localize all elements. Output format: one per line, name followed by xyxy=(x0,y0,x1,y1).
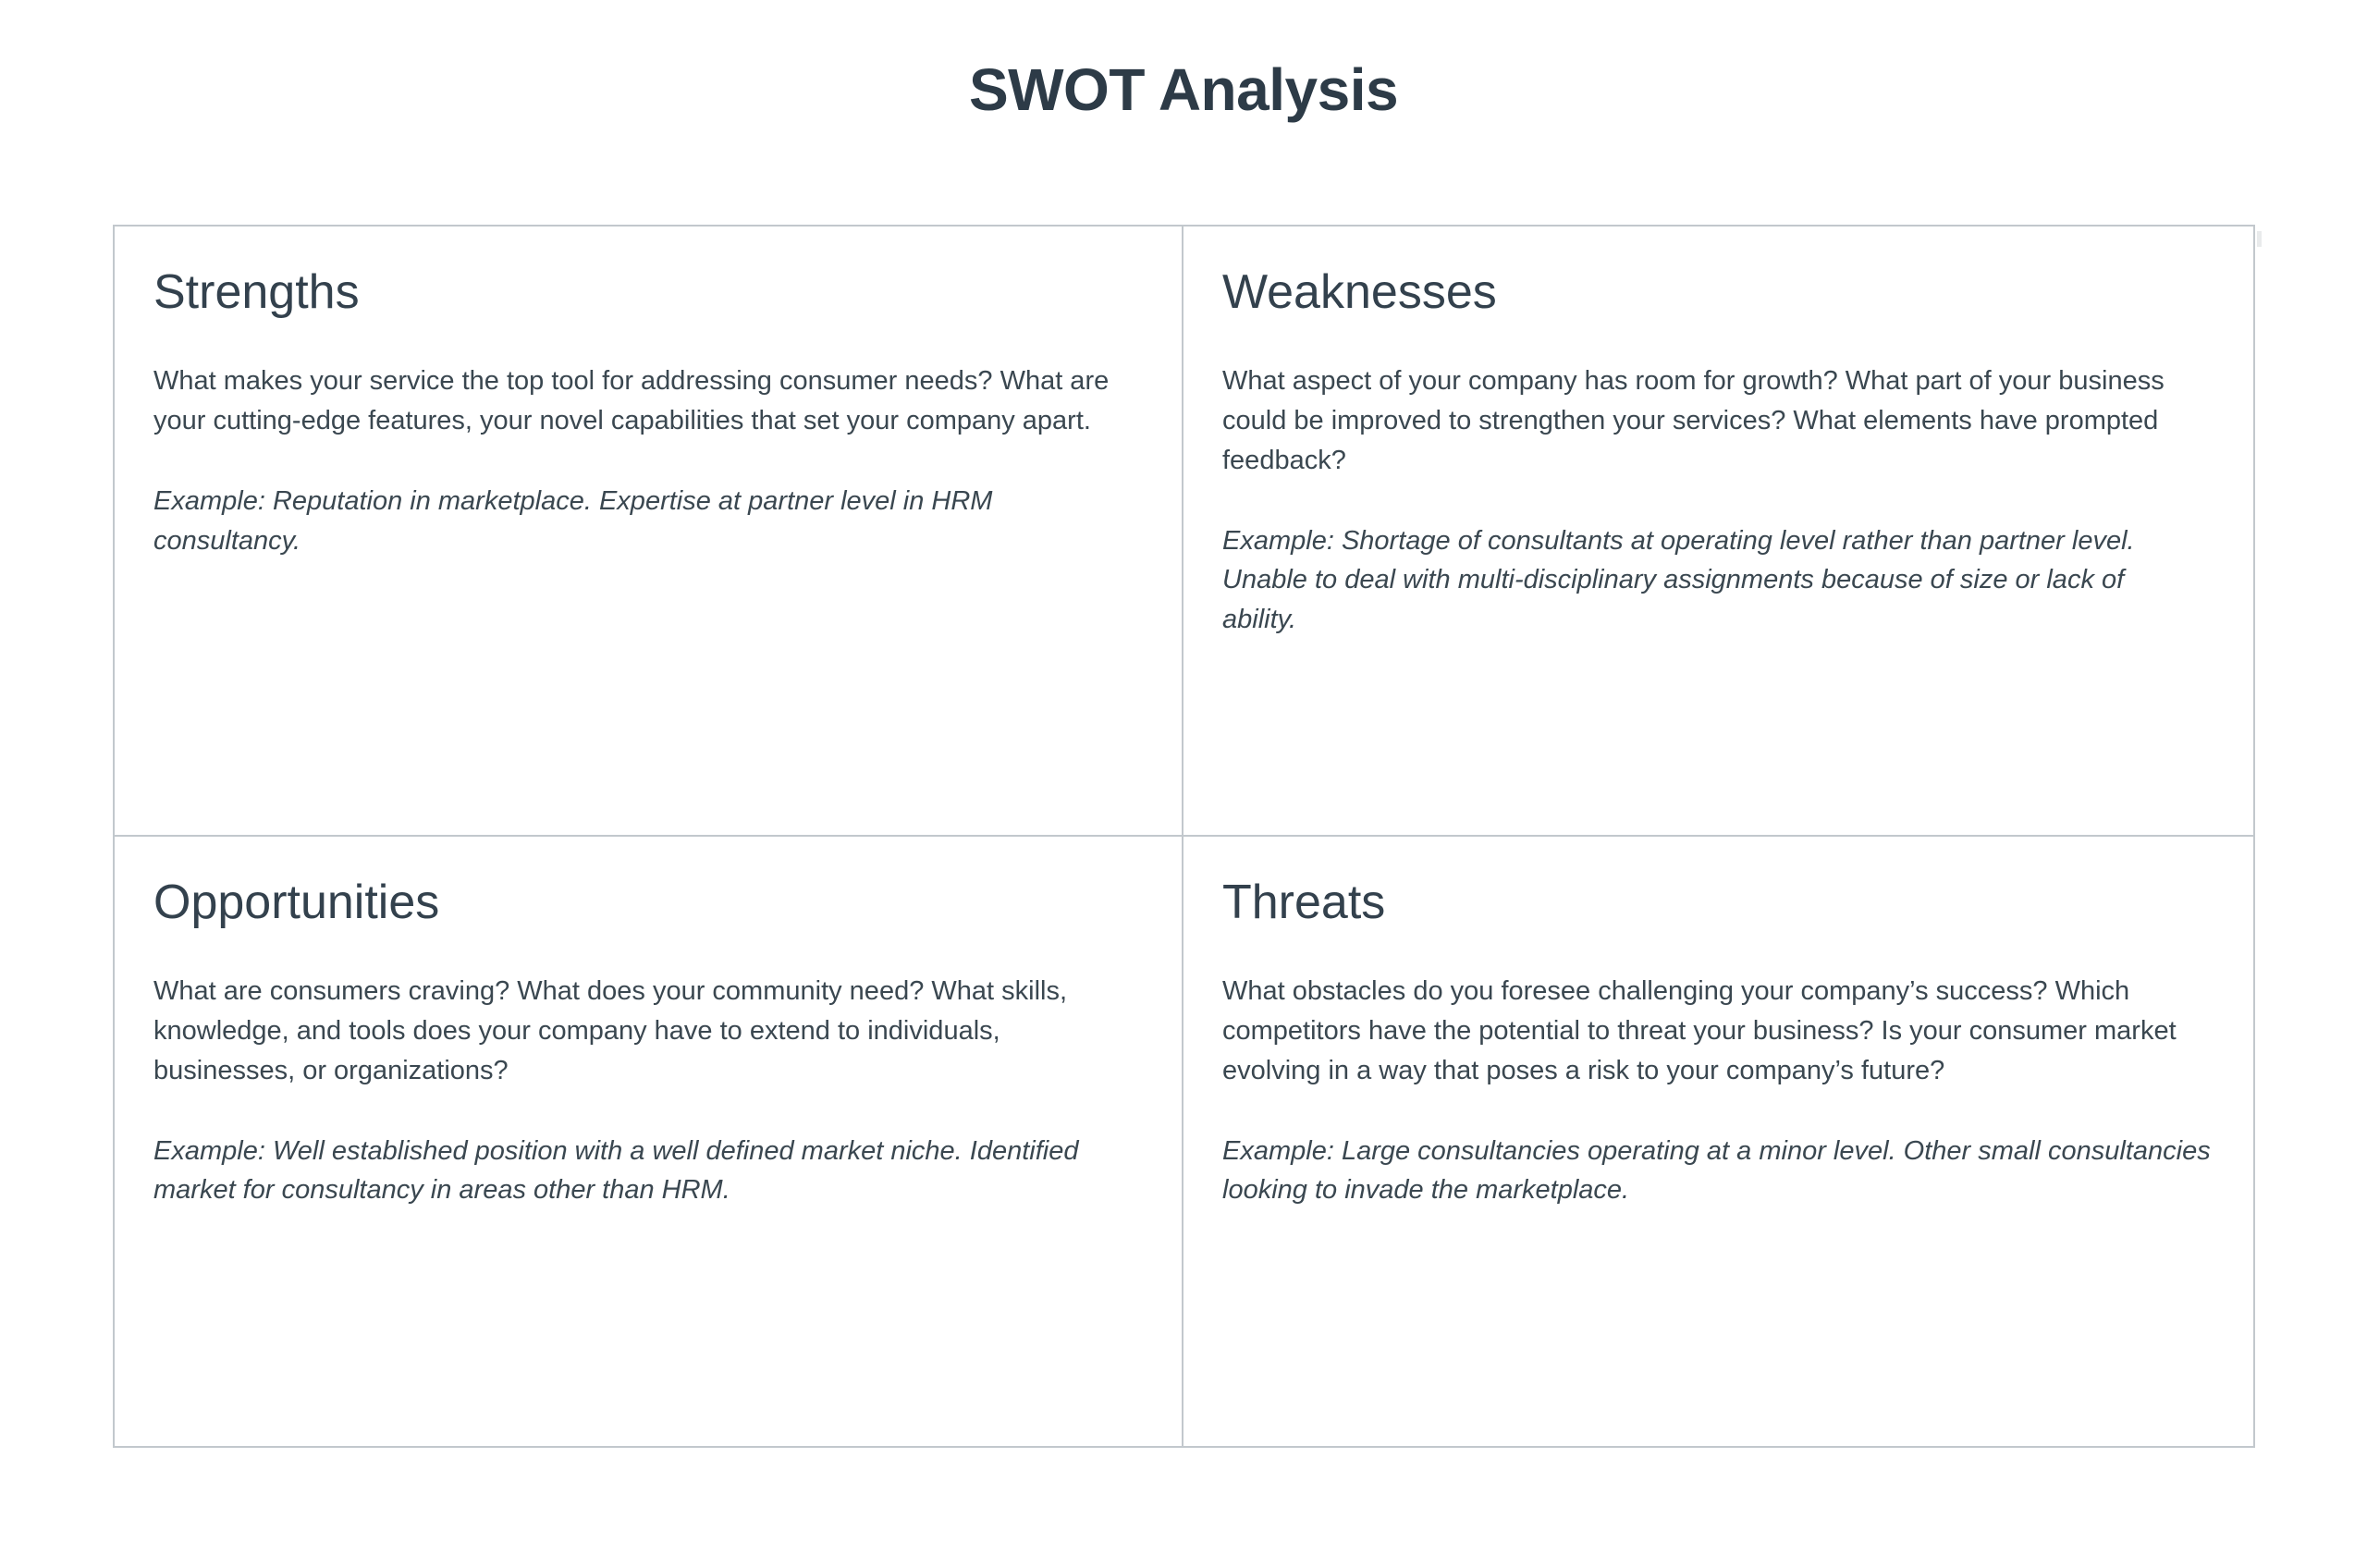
scrollbar-artifact xyxy=(2257,231,2262,247)
quadrant-body-weaknesses: What aspect of your company has room for… xyxy=(1222,361,2216,481)
quadrant-example-opportunities: Example: Well established position with … xyxy=(153,1132,1145,1211)
quadrant-heading-threats: Threats xyxy=(1222,876,2216,931)
quadrant-body-threats: What obstacles do you foresee challengin… xyxy=(1222,972,2216,1091)
quadrant-threats: Threats What obstacles do you foresee ch… xyxy=(1183,837,2253,1446)
quadrant-example-weaknesses: Example: Shortage of consultants at oper… xyxy=(1222,521,2216,641)
quadrant-example-threats: Example: Large consultancies operating a… xyxy=(1222,1132,2216,1211)
page-title: SWOT Analysis xyxy=(0,57,2367,122)
quadrant-opportunities: Opportunities What are consumers craving… xyxy=(115,837,1183,1446)
quadrant-body-opportunities: What are consumers craving? What does yo… xyxy=(153,972,1145,1091)
quadrant-example-strengths: Example: Reputation in marketplace. Expe… xyxy=(153,482,1145,561)
quadrant-heading-opportunities: Opportunities xyxy=(153,876,1145,931)
quadrant-weaknesses: Weaknesses What aspect of your company h… xyxy=(1183,227,2253,837)
swot-grid: Strengths What makes your service the to… xyxy=(113,225,2255,1448)
quadrant-heading-weaknesses: Weaknesses xyxy=(1222,265,2216,321)
quadrant-strengths: Strengths What makes your service the to… xyxy=(115,227,1183,837)
quadrant-body-strengths: What makes your service the top tool for… xyxy=(153,361,1145,441)
swot-analysis-page: SWOT Analysis Strengths What makes your … xyxy=(0,0,2367,1568)
quadrant-heading-strengths: Strengths xyxy=(153,265,1145,321)
